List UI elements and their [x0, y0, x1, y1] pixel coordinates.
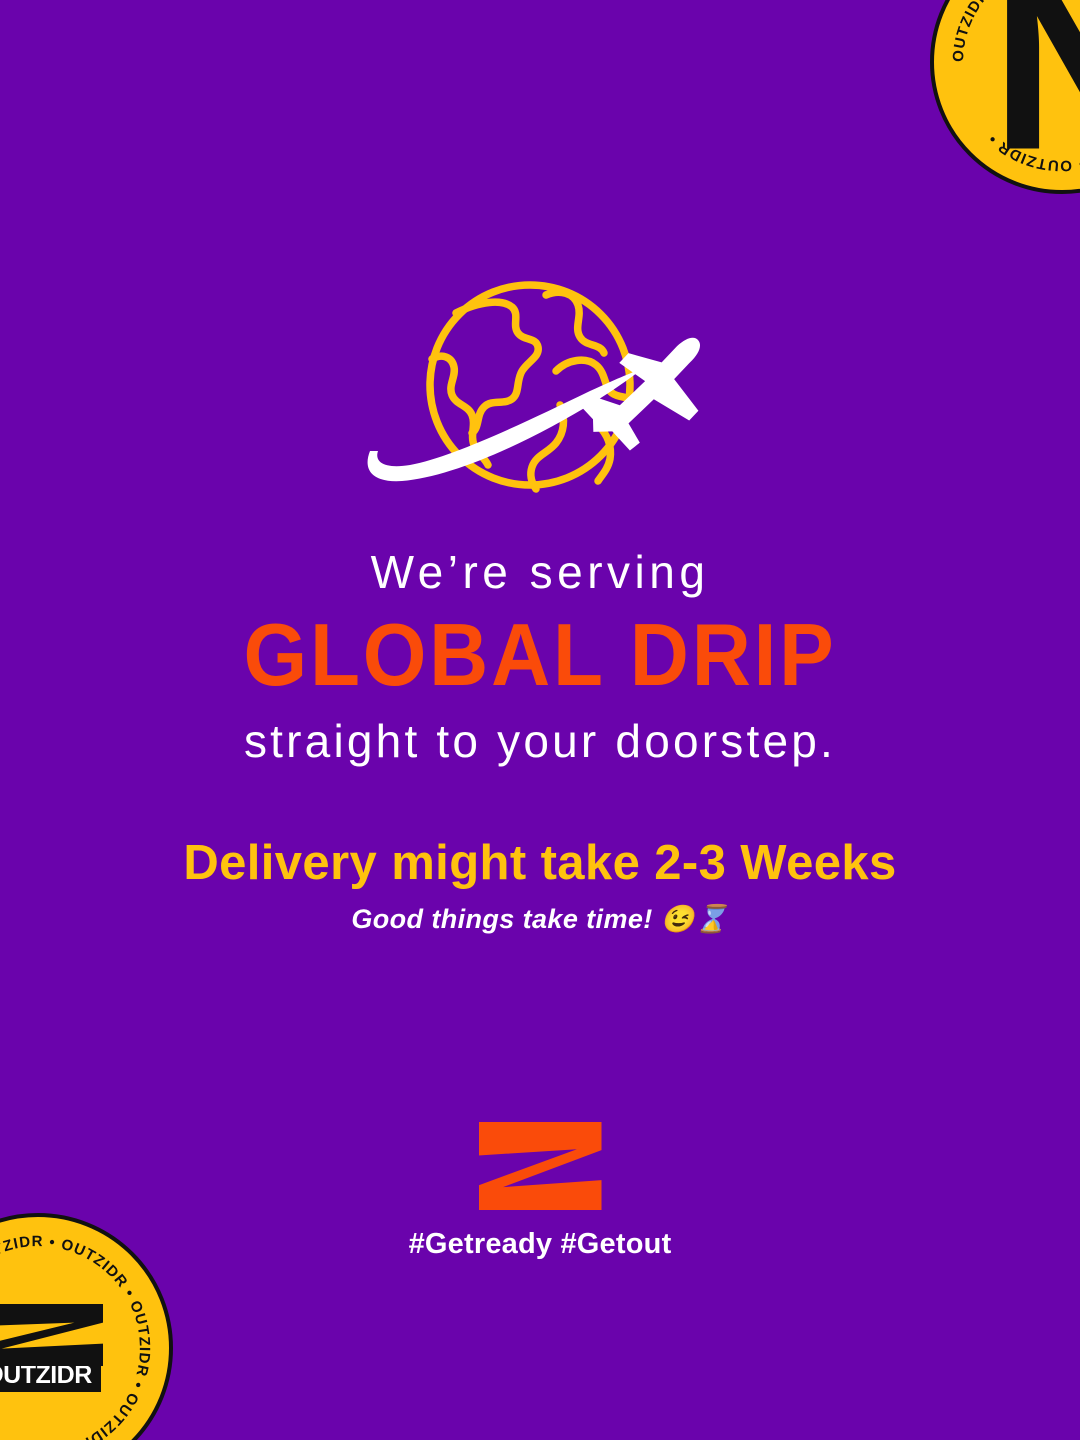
badge-big-letter: N: [990, 0, 1080, 160]
footer-lockup: #Getready #Getout: [0, 1122, 1080, 1261]
delivery-note: Delivery might take 2-3 Weeks: [0, 837, 1080, 891]
badge-core-lockup: OUTZIDR: [0, 1304, 113, 1392]
page-title: GLOBAL DRIP: [38, 606, 1042, 705]
promo-poster: OUTZIDR • OUTZIDR • OUTZIDR • OUTZIDR • …: [0, 0, 1080, 1440]
eyebrow-text: We’re serving: [0, 548, 1080, 596]
badge-z-icon: [0, 1304, 103, 1366]
outzidr-z-logo: [479, 1122, 602, 1210]
hashtags-text: #Getready #Getout: [409, 1228, 672, 1261]
globe-landmass-north: [546, 292, 604, 353]
globe-airplane-icon: [360, 275, 720, 515]
copy-block: We’re serving GLOBAL DRIP straight to yo…: [0, 548, 1080, 935]
reassurance-text: Good things take time! 😉⌛: [0, 903, 1080, 935]
subhead-text: straight to your doorstep.: [0, 717, 1080, 765]
outzidr-sticker-top-right: OUTZIDR • OUTZIDR • OUTZIDR • OUTZIDR • …: [930, 0, 1080, 194]
